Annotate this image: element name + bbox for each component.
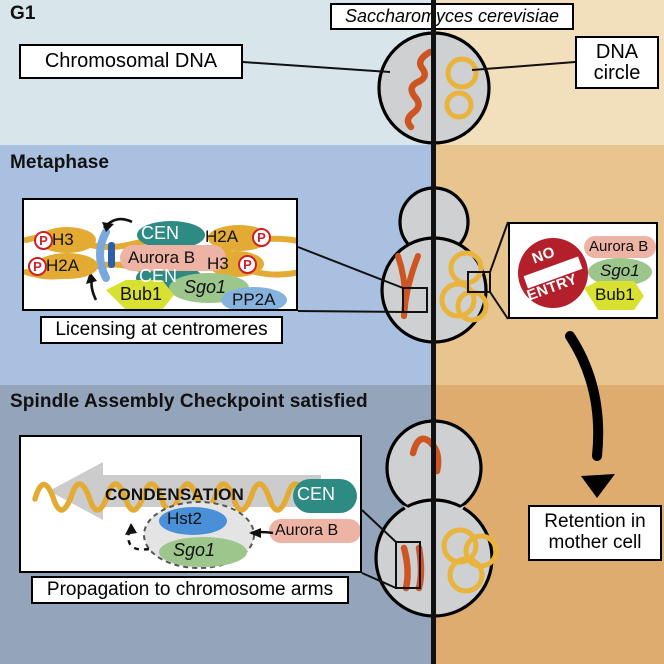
phospho-mark-h3-left: P <box>34 231 53 250</box>
protein-label-sgo1: Sgo1 <box>184 277 226 298</box>
cond-protein-aurora-b: Aurora B <box>275 522 338 540</box>
protein-label-h3-right: H3 <box>207 254 229 274</box>
condensation-arrow-label: CONDENSATION <box>105 485 244 505</box>
protein-label-h2a-right: H2A <box>205 227 238 247</box>
stage-label-metaphase: Metaphase <box>10 152 109 174</box>
propagation-caption-box: Propagation to chromosome arms <box>31 576 349 604</box>
phospho-mark-h2a-right: P <box>252 228 271 247</box>
protein-label-cen-top: CEN <box>141 223 179 244</box>
retention-line1: Retention in <box>544 512 645 533</box>
stage-label-sac: Spindle Assembly Checkpoint satisfied <box>10 391 368 413</box>
dna-circle-line1: DNA <box>596 42 638 63</box>
noentry-protein-sgo1: Sgo1 <box>600 261 640 281</box>
metaphase-inset-panel: H3 H2A H2A H3 CEN CEN Aurora B Sgo1 PP2A… <box>22 198 298 311</box>
dna-circle-box: DNA circle <box>575 36 659 89</box>
phospho-mark-h3-right: P <box>238 255 257 274</box>
stage-label-g1: G1 <box>10 3 36 25</box>
retention-box: Retention in mother cell <box>528 505 662 561</box>
noentry-protein-bub1: Bub1 <box>595 285 635 305</box>
figure-root: G1 Metaphase Spindle Assembly Checkpoint… <box>0 0 664 664</box>
mother-bud-divider <box>431 0 436 664</box>
no-entry-inset-panel: NO ENTRY Aurora B Sgo1 Bub1 <box>508 222 658 319</box>
protein-label-bub1: Bub1 <box>120 284 162 305</box>
retention-line2: mother cell <box>549 533 642 554</box>
cond-protein-hst2: Hst2 <box>167 509 202 529</box>
cond-protein-cen: CEN <box>297 484 335 505</box>
cond-protein-sgo1: Sgo1 <box>173 540 215 561</box>
protein-label-pp2a: PP2A <box>232 290 275 310</box>
protein-label-h3-left: H3 <box>52 230 74 250</box>
protein-label-aurora-b: Aurora B <box>128 248 195 268</box>
protein-label-h2a-left: H2A <box>46 256 79 276</box>
dna-circle-line2: circle <box>594 63 641 84</box>
licensing-caption-box: Licensing at centromeres <box>40 316 283 344</box>
phospho-mark-h2a-left: P <box>28 257 47 276</box>
chromosomal-dna-box: Chromosomal DNA <box>19 44 243 79</box>
noentry-protein-aurora-b: Aurora B <box>589 238 648 255</box>
species-name-box: Saccharomyces cerevisiae <box>330 3 574 30</box>
